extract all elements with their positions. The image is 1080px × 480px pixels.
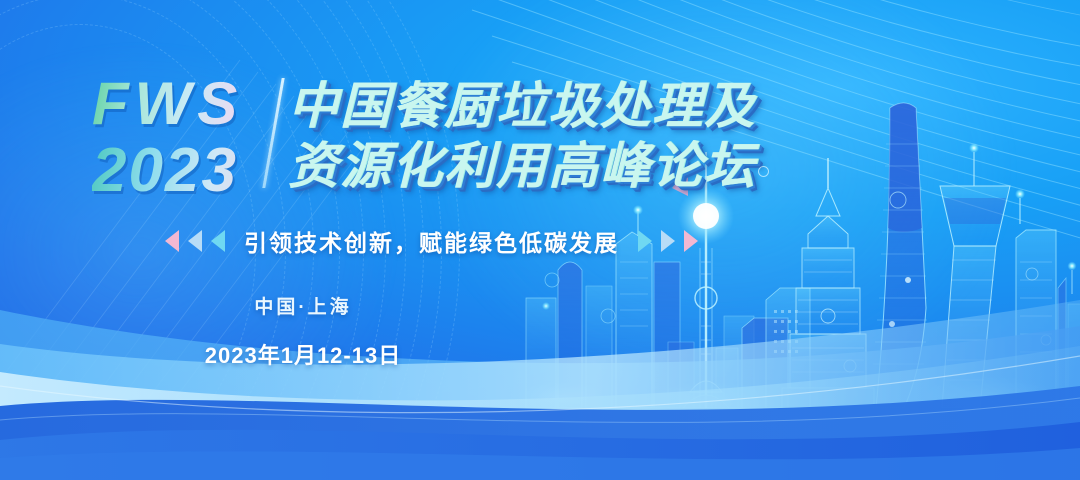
triangle-right-light-blue-icon: [661, 230, 675, 252]
event-location: 中国·上海: [0, 292, 606, 319]
circle-outline-icon: [758, 166, 769, 177]
event-date: 2023年1月12-13日: [0, 338, 606, 370]
title-line-1: 中国餐厨垃圾处理及: [288, 78, 756, 134]
logo-year: 2023: [92, 140, 292, 202]
event-title: 中国餐厨垃圾处理及 资源化利用高峰论坛: [288, 78, 756, 194]
event-banner: FWS 2023 中国餐厨垃圾处理及 资源化利用高峰论坛 引领技术创新，赋能绿色…: [0, 0, 1080, 480]
event-logo: FWS 2023: [92, 74, 292, 202]
banner-content: FWS 2023 中国餐厨垃圾处理及 资源化利用高峰论坛 引领技术创新，赋能绿色…: [0, 0, 1080, 480]
event-subtitle: 引领技术创新，赋能绿色低碳发展: [244, 224, 619, 258]
logo-acronym: FWS: [92, 74, 292, 134]
event-subtitle-row: 引领技术创新，赋能绿色低碳发展: [165, 224, 698, 258]
triangle-left-cyan-icon: [211, 230, 225, 252]
triangle-left-pink-icon: [165, 230, 179, 252]
title-line-2: 资源化利用高峰论坛: [288, 138, 756, 194]
triangle-left-light-blue-icon: [188, 230, 202, 252]
triangle-right-cyan-icon: [638, 230, 652, 252]
triangle-right-pink-icon: [684, 230, 698, 252]
